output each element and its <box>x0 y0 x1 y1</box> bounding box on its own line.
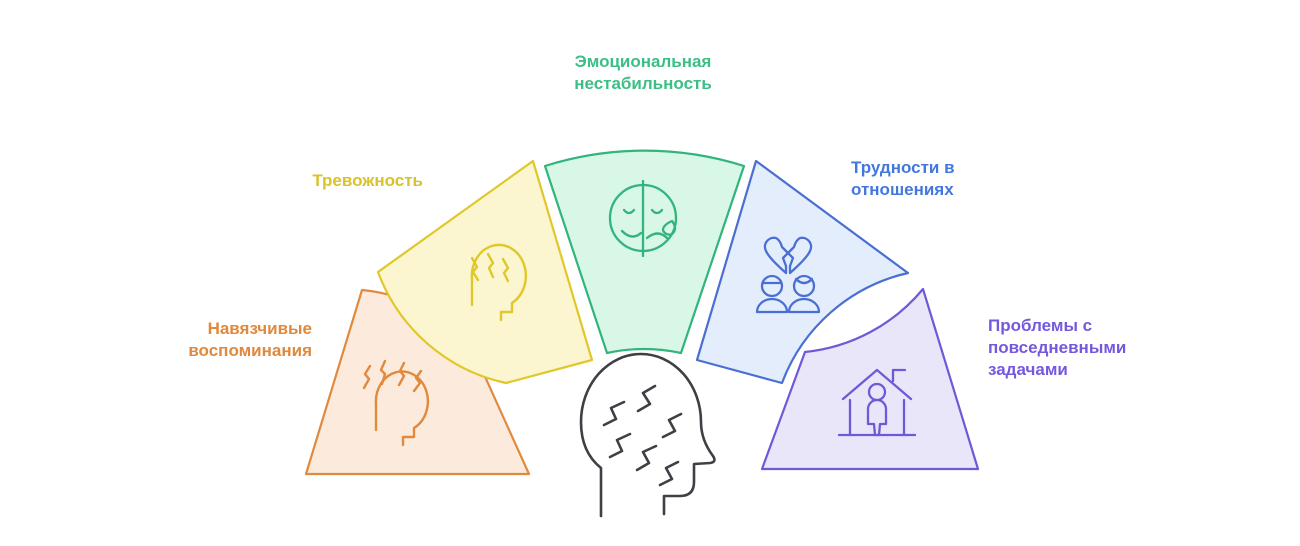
infographic-canvas: Навязчивые воспоминания Тревожность Эмоц… <box>0 0 1300 546</box>
label-anxiety-line1: Тревожность <box>230 170 423 192</box>
label-intrusive-memories: Навязчивые воспоминания <box>140 318 312 362</box>
label-relationship-difficulties-line2: отношениях <box>851 179 1041 201</box>
label-anxiety: Тревожность <box>230 170 423 192</box>
label-relationship-difficulties: Трудности в отношениях <box>851 157 1041 201</box>
label-daily-tasks-problems-line3: задачами <box>988 359 1208 381</box>
label-daily-tasks-problems-line1: Проблемы с <box>988 315 1208 337</box>
label-daily-tasks-problems: Проблемы с повседневными задачами <box>988 315 1208 381</box>
label-emotional-instability-line1: Эмоциональная <box>528 51 758 73</box>
label-intrusive-memories-line1: Навязчивые <box>140 318 312 340</box>
label-emotional-instability: Эмоциональная нестабильность <box>528 51 758 95</box>
label-relationship-difficulties-line1: Трудности в <box>851 157 1041 179</box>
label-emotional-instability-line2: нестабильность <box>528 73 758 95</box>
label-intrusive-memories-line2: воспоминания <box>140 340 312 362</box>
center-head-with-zigzag-thoughts-icon <box>581 354 714 516</box>
label-daily-tasks-problems-line2: повседневными <box>988 337 1208 359</box>
